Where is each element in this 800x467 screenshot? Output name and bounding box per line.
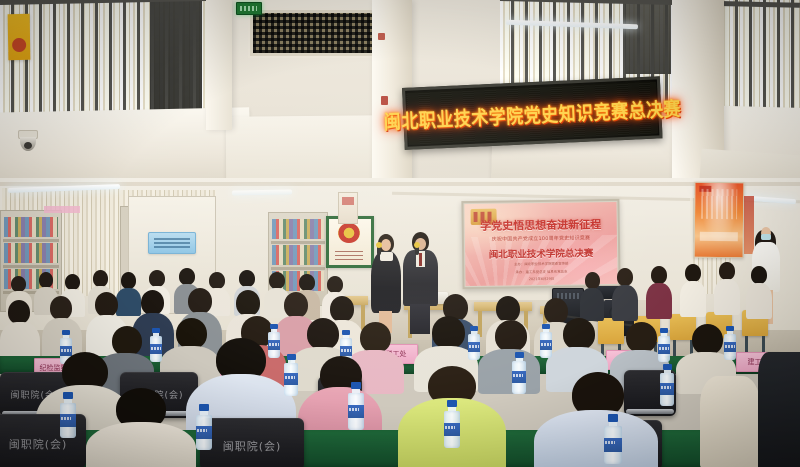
audience-person (0, 300, 40, 362)
water-bottle (512, 352, 526, 394)
water-bottle (150, 328, 162, 362)
ceiling-edge (0, 182, 800, 186)
notice-board-sign (148, 232, 196, 254)
shelf-pink-label (44, 206, 80, 213)
water-bottle (196, 404, 212, 450)
water-bottle (724, 326, 736, 360)
wall-mini-poster (338, 192, 358, 224)
column-left (206, 0, 232, 130)
host-female (368, 234, 406, 334)
water-bottle (444, 400, 460, 448)
ceiling-light-center (232, 189, 292, 195)
event-poster-right (694, 182, 745, 259)
foreground-person-back (86, 388, 196, 467)
audience-person (580, 272, 604, 320)
audience-person (746, 266, 772, 318)
foreground-person-side (700, 366, 760, 467)
water-bottle (660, 364, 674, 406)
water-bottle (604, 414, 622, 464)
yellow-banner (8, 14, 31, 60)
water-bottle (540, 324, 552, 358)
water-bottle (348, 382, 364, 430)
wall-fire-box (381, 96, 388, 105)
audience-person (646, 266, 672, 318)
water-bottle (60, 392, 76, 438)
screen-subtitle: 庆祝中国共产党成立100周年党史知识竞赛 (492, 234, 591, 242)
conference-chair[interactable]: 闽职院(会) (200, 418, 304, 467)
lattice-window (250, 10, 378, 56)
cctv-lens (24, 142, 32, 149)
led-banner-text: 闽北职业技术学院党史知识竞赛总决赛 (383, 92, 681, 134)
microphone-icon (415, 246, 419, 255)
audience-person (612, 268, 638, 320)
photo-canvas: 闽北职业技术学院党史知识竞赛总决赛 (0, 0, 800, 467)
water-bottle (284, 354, 298, 396)
chair-label: 闽职院(会) (0, 436, 86, 452)
water-bottle (658, 328, 670, 362)
balcony-railing-left (0, 0, 232, 118)
screen-event-name: 闽北职业技术学院总决赛 (489, 245, 594, 260)
poster-chandelier-art (701, 189, 737, 219)
foreground-person-back (534, 372, 658, 467)
led-banner: 闽北职业技术学院党史知识竞赛总决赛 (402, 76, 663, 150)
chair-label: 闽职院(会) (200, 438, 304, 454)
foreground-person-side (758, 352, 800, 467)
audience-person (680, 264, 706, 316)
wall-fire-box-upper (378, 33, 385, 40)
water-bottle (468, 326, 480, 360)
audience-person (714, 262, 740, 314)
screen-credit-3: 2021年6月29日 (529, 277, 554, 283)
poster-title-band (700, 232, 738, 241)
microphone-icon (377, 246, 381, 255)
screen-headline: 学党史悟思想奋进新征程 (480, 216, 601, 234)
face-mask-icon (761, 234, 771, 240)
screen-credit-1: 主办：闽北职业技术学院党委宣传部 (514, 261, 568, 268)
plaque-text-lines (335, 248, 363, 260)
exit-sign (236, 2, 262, 15)
screen-credit-2: 承办：建工系党总支 信息系党总支 (515, 269, 567, 276)
